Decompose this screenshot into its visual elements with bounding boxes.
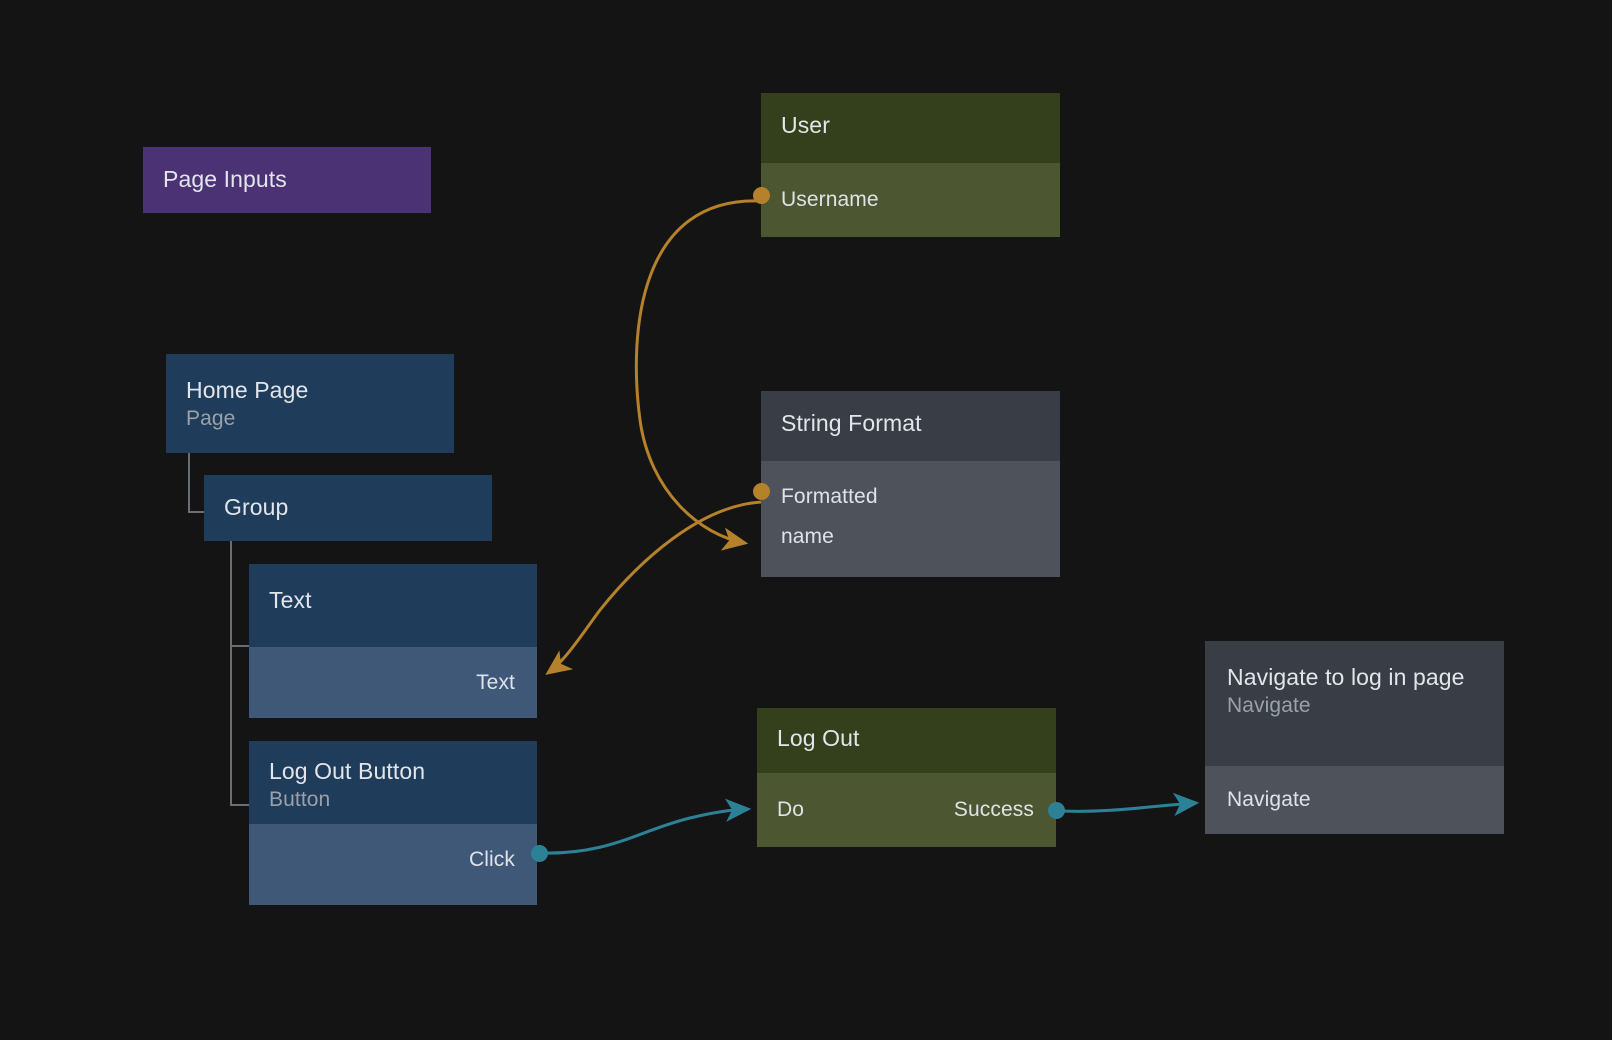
- navigate-header: Navigate to log in page Navigate: [1205, 641, 1504, 766]
- text-widget-title: Text: [269, 586, 517, 615]
- port-name-input-label: name: [781, 525, 834, 549]
- wire-click-to-do: [540, 809, 748, 853]
- node-page-inputs[interactable]: Page Inputs: [143, 147, 431, 213]
- port-formatted-output[interactable]: Formatted: [761, 477, 1060, 517]
- home-page-title: Home Page: [186, 376, 434, 405]
- port-do-input-label[interactable]: Do: [777, 798, 804, 822]
- port-navigate-input[interactable]: Navigate: [1205, 766, 1504, 834]
- navigate-subtitle: Navigate: [1227, 692, 1482, 719]
- node-string-format[interactable]: String Format Formatted name: [761, 391, 1060, 577]
- node-group[interactable]: Group: [204, 475, 492, 541]
- log-out-title: Log Out: [777, 724, 1036, 753]
- page-inputs-header: Page Inputs: [143, 147, 431, 212]
- log-out-button-subtitle: Button: [269, 786, 517, 813]
- port-click-output-label: Click: [469, 848, 515, 872]
- home-page-header: Home Page Page: [166, 354, 454, 432]
- wire-username-to-name: [636, 201, 761, 543]
- node-log-out-button[interactable]: Log Out Button Button Click: [249, 741, 537, 905]
- tree-line-homepage-vertical: [188, 453, 190, 513]
- node-home-page[interactable]: Home Page Page: [166, 354, 454, 453]
- port-formatted-output-label: Formatted: [781, 485, 878, 509]
- string-format-body: Formatted name: [761, 461, 1060, 577]
- log-out-button-header: Log Out Button Button: [249, 741, 537, 824]
- tree-line-group-vertical: [230, 541, 232, 806]
- port-username-output[interactable]: Username: [761, 163, 1060, 237]
- port-click-dot[interactable]: [531, 845, 548, 862]
- tree-line-group-to-text: [230, 645, 250, 647]
- node-log-out[interactable]: Log Out Do Success: [757, 708, 1056, 847]
- log-out-button-body: Click: [249, 824, 537, 905]
- string-format-title: String Format: [781, 409, 1040, 438]
- navigate-body: Navigate: [1205, 766, 1504, 834]
- port-click-output[interactable]: Click: [249, 824, 537, 895]
- port-text-input[interactable]: Text: [249, 647, 537, 718]
- text-widget-header: Text: [249, 564, 537, 647]
- port-formatted-dot[interactable]: [753, 483, 770, 500]
- port-text-input-label: Text: [476, 671, 515, 695]
- wire-success-to-navigate: [1062, 803, 1196, 811]
- string-format-header: String Format: [761, 391, 1060, 461]
- port-name-input[interactable]: name: [761, 517, 1060, 557]
- group-title: Group: [224, 493, 472, 522]
- log-out-port-row: Do Success: [757, 773, 1056, 847]
- user-header: User: [761, 93, 1060, 163]
- log-out-button-title: Log Out Button: [269, 757, 517, 786]
- user-title: User: [781, 111, 1040, 140]
- node-user[interactable]: User Username: [761, 93, 1060, 237]
- port-username-dot[interactable]: [753, 187, 770, 204]
- node-graph-canvas[interactable]: Page Inputs Home Page Page Group Text Te…: [0, 0, 1612, 1040]
- user-body: Username: [761, 163, 1060, 237]
- navigate-title: Navigate to log in page: [1227, 663, 1482, 692]
- port-success-dot[interactable]: [1048, 802, 1065, 819]
- port-success-output-label[interactable]: Success: [954, 798, 1034, 822]
- wire-formatted-to-text: [548, 502, 761, 673]
- page-inputs-title: Page Inputs: [163, 165, 411, 194]
- log-out-header: Log Out: [757, 708, 1056, 773]
- group-header: Group: [204, 475, 492, 540]
- log-out-body: Do Success: [757, 773, 1056, 847]
- node-navigate[interactable]: Navigate to log in page Navigate Navigat…: [1205, 641, 1504, 834]
- home-page-subtitle: Page: [186, 405, 434, 432]
- node-text-widget[interactable]: Text Text: [249, 564, 537, 718]
- port-navigate-input-label: Navigate: [1227, 788, 1311, 812]
- text-widget-body: Text: [249, 647, 537, 718]
- port-username-output-label: Username: [781, 188, 879, 212]
- tree-line-group-to-button: [230, 804, 250, 806]
